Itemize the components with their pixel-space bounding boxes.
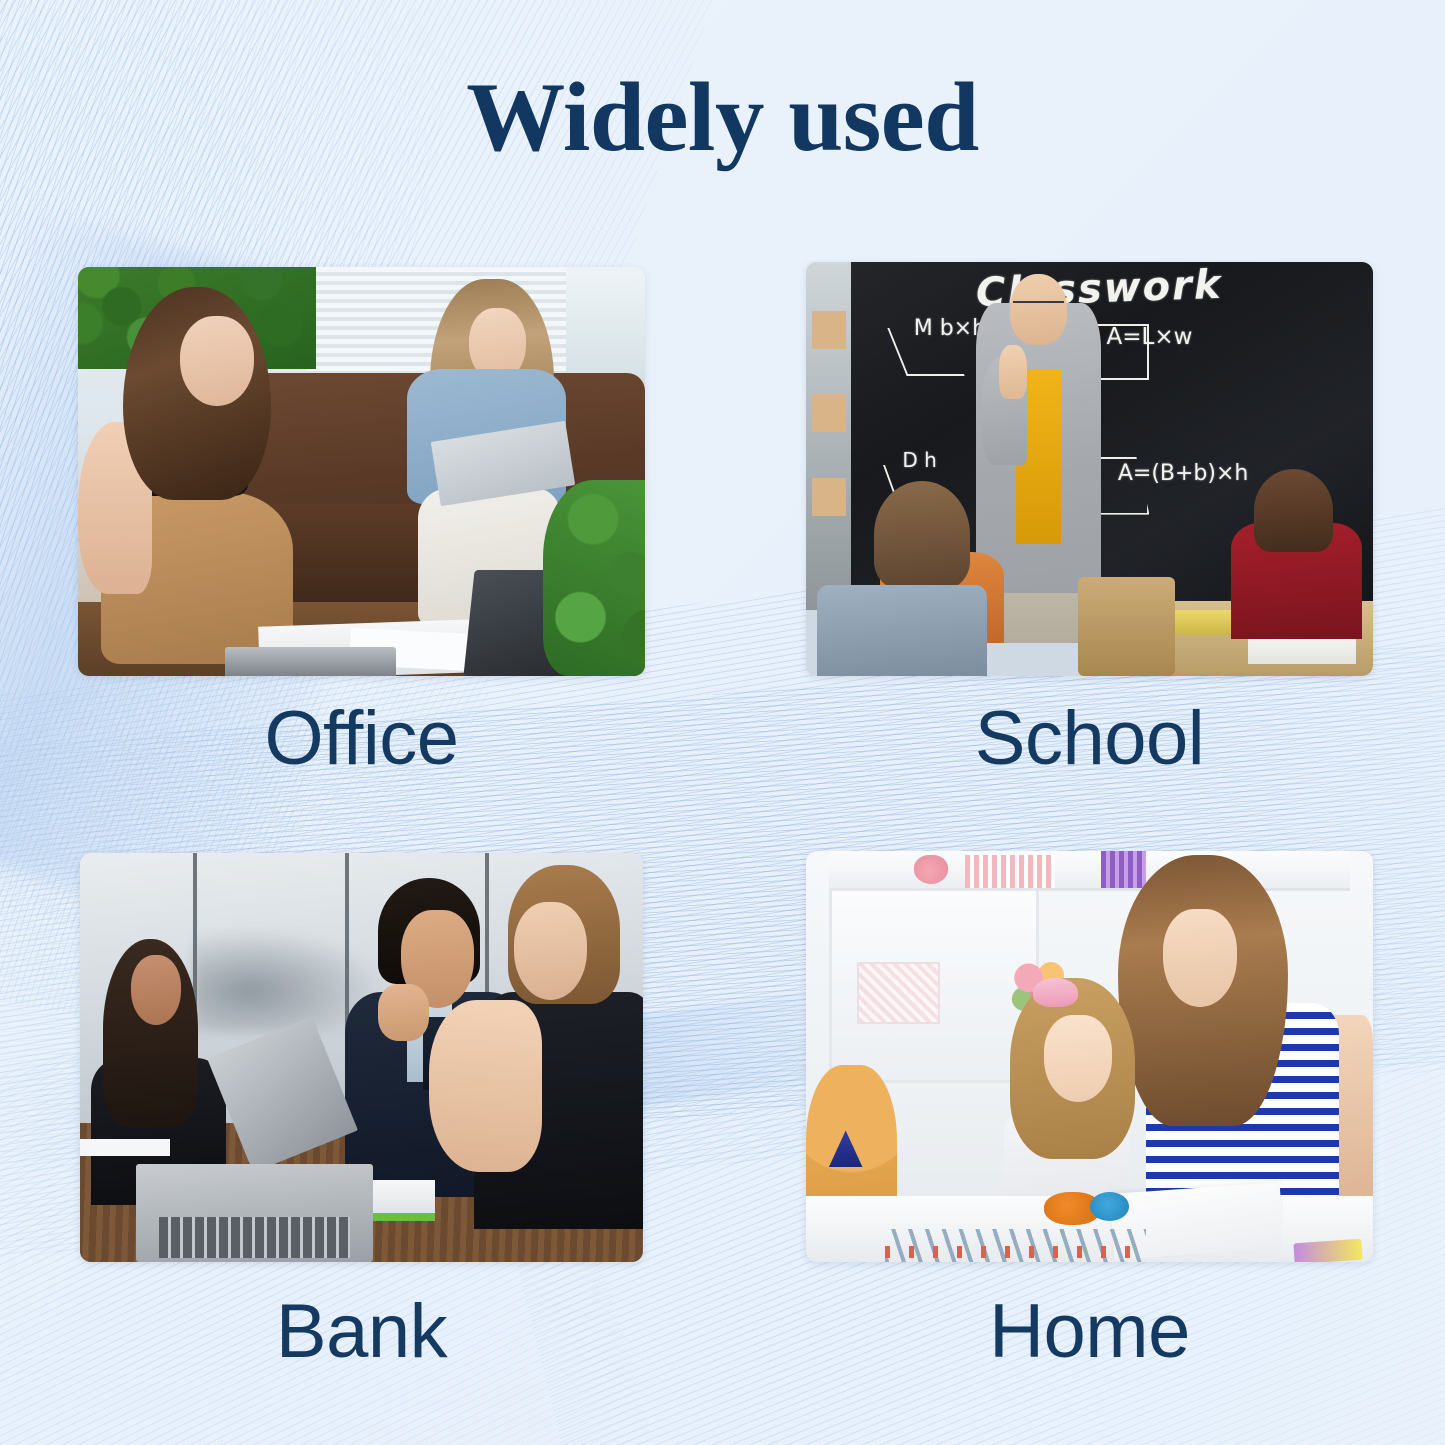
poster-canvas: Widely used Office xyxy=(0,0,1445,1445)
card-home xyxy=(806,851,1373,1262)
card-label-office: Office xyxy=(78,695,645,782)
page-title: Widely used xyxy=(0,66,1445,170)
card-label-school: School xyxy=(806,695,1373,782)
card-bank xyxy=(80,853,643,1262)
card-school: Classwork M b×h A=L×w D h A=(B+b)×h xyxy=(806,262,1373,676)
chalkboard-formula-3: D h xyxy=(902,448,936,472)
photo-bank xyxy=(80,853,643,1262)
card-label-home: Home xyxy=(806,1288,1373,1375)
chalkboard-formula-4: A=(B+b)×h xyxy=(1118,461,1249,486)
photo-school: Classwork M b×h A=L×w D h A=(B+b)×h xyxy=(806,262,1373,676)
photo-home xyxy=(806,851,1373,1262)
card-label-bank: Bank xyxy=(80,1288,643,1375)
photo-office xyxy=(78,267,645,676)
card-office xyxy=(78,267,645,676)
chalkboard-formula-1: M b×h xyxy=(914,316,986,341)
chalkboard-formula-2: A=L×w xyxy=(1107,324,1193,350)
